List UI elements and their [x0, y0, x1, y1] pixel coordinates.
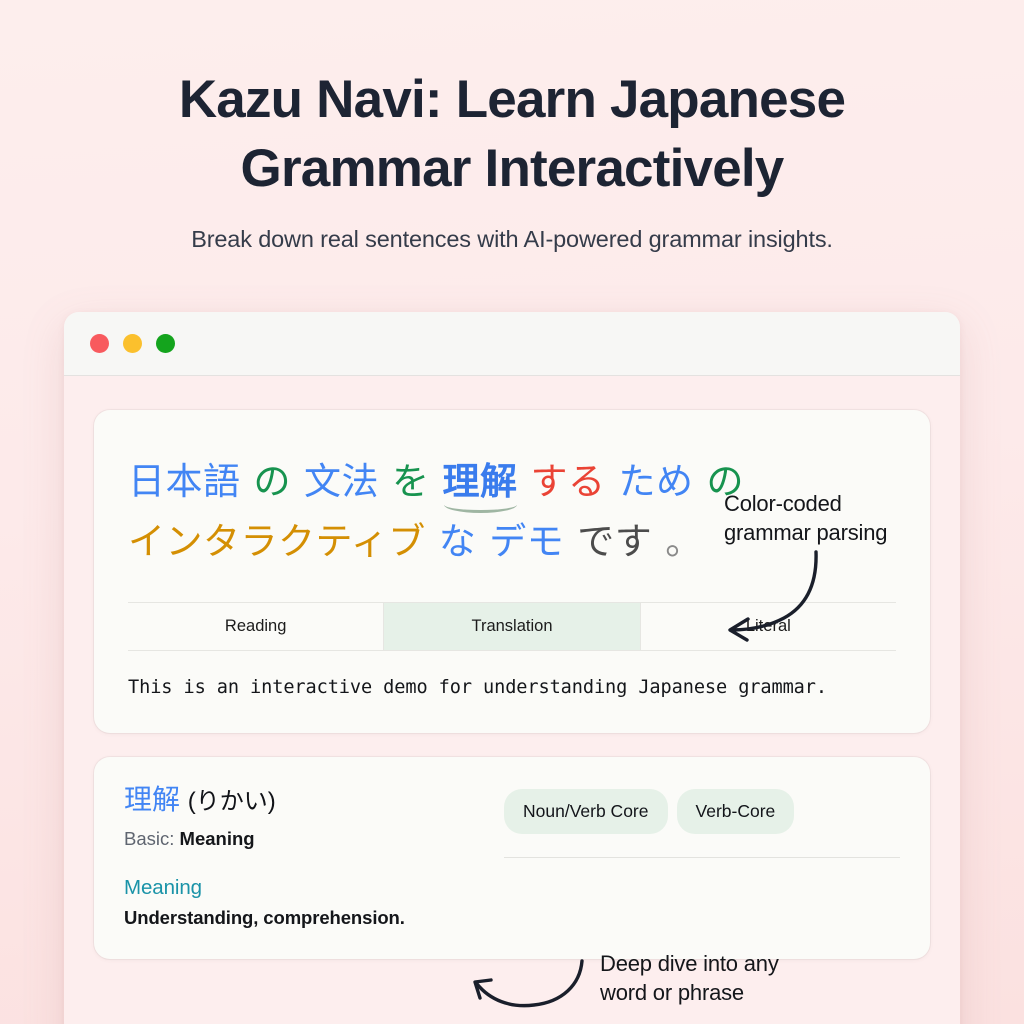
grammar-tag-chips: Noun/Verb CoreVerb-Core — [504, 789, 900, 834]
meaning-section-label: Meaning — [124, 876, 484, 900]
grammar-chip[interactable]: Verb-Core — [677, 789, 795, 834]
minimize-window-icon[interactable] — [123, 334, 142, 353]
browser-window: 日本語の文法を理解するためのインタラクティブなデモです。 ReadingTran… — [64, 312, 960, 1024]
annotation-arrow-curve-left-icon — [464, 955, 589, 1017]
sentence-token[interactable]: 理解 — [443, 452, 518, 512]
meaning-definition: Understanding, comprehension. — [124, 907, 484, 929]
page-title-line-2: Grammar Interactively — [241, 139, 784, 198]
word-kana-reading: (りかい) — [188, 788, 276, 815]
annotation-1-line-1: Color-coded — [724, 489, 887, 518]
hero-section: Kazu Navi: Learn Japanese Grammar Intera… — [0, 0, 1024, 253]
sentence-token[interactable]: 。 — [665, 512, 703, 572]
annotation-2-line-1: Deep dive into any — [600, 949, 779, 978]
tab-translation[interactable]: Translation — [384, 603, 640, 650]
word-detail-right: Noun/Verb CoreVerb-Core — [504, 783, 900, 929]
word-detail-left: 理解 (りかい) Basic: Meaning Meaning Understa… — [124, 783, 484, 929]
annotation-color-coded: Color-coded grammar parsing — [724, 489, 887, 547]
annotation-2-line-2: word or phrase — [600, 978, 779, 1007]
annotation-1-line-2: grammar parsing — [724, 518, 887, 547]
sentence-token[interactable]: する — [531, 452, 606, 512]
sentence-token[interactable]: です — [577, 512, 652, 572]
tab-reading[interactable]: Reading — [128, 603, 384, 650]
sentence-token[interactable]: インタラクティブ — [128, 512, 426, 572]
close-window-icon[interactable] — [90, 334, 109, 353]
page-subtitle: Break down real sentences with AI-powere… — [0, 226, 1024, 253]
basic-label: Basic: — [124, 828, 174, 849]
detail-divider — [504, 857, 900, 858]
sentence-token[interactable]: ため — [619, 452, 694, 512]
word-heading: 理解 (りかい) — [124, 783, 484, 817]
sentence-token[interactable]: 日本語 — [128, 452, 241, 512]
browser-viewport: 日本語の文法を理解するためのインタラクティブなデモです。 ReadingTran… — [64, 376, 960, 1024]
word-detail-card: 理解 (りかい) Basic: Meaning Meaning Understa… — [94, 757, 930, 959]
word-kanji: 理解 — [124, 784, 180, 815]
maximize-window-icon[interactable] — [156, 334, 175, 353]
sentence-token[interactable]: の — [254, 452, 292, 512]
page-title-line-1: Kazu Navi: Learn Japanese — [179, 70, 845, 129]
sentence-token[interactable]: デモ — [489, 512, 564, 572]
browser-titlebar — [64, 312, 960, 376]
page-title: Kazu Navi: Learn Japanese Grammar Intera… — [0, 66, 1024, 204]
annotation-arrow-down-left-icon — [712, 545, 832, 650]
basic-value: Meaning — [180, 828, 255, 849]
sentence-token[interactable]: な — [439, 512, 477, 572]
annotation-deep-dive: Deep dive into any word or phrase — [600, 949, 779, 1007]
basic-meaning-line: Basic: Meaning — [124, 828, 484, 850]
translation-text: This is an interactive demo for understa… — [128, 673, 896, 703]
sentence-token[interactable]: を — [392, 452, 430, 512]
sentence-token[interactable]: 文法 — [304, 452, 379, 512]
grammar-chip[interactable]: Noun/Verb Core — [504, 789, 668, 834]
